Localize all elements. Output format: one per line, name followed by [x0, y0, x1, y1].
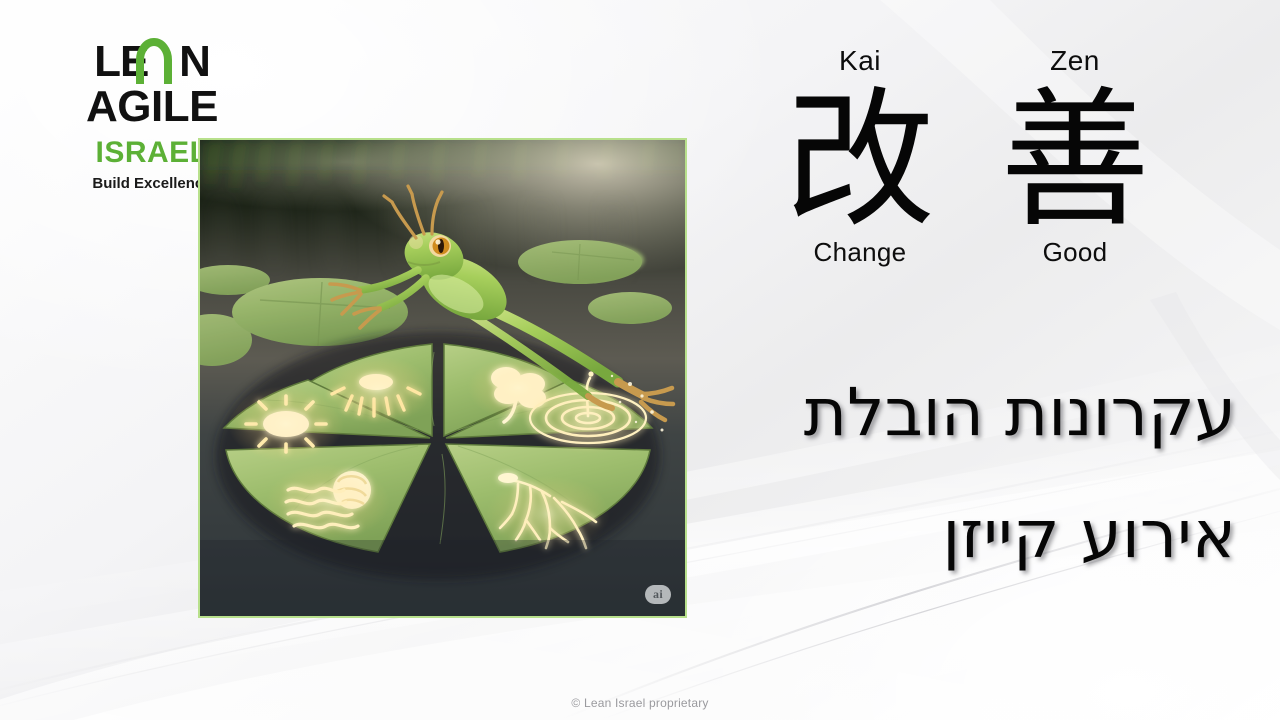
kanji-column-kai: Kai 改 Change — [760, 44, 960, 268]
slide-canvas: LEAN AGILE ISRAEL Build Excellence — [0, 0, 1280, 720]
kanji-romaji-zen: Zen — [975, 44, 1175, 78]
kaizen-illustration: ai — [198, 138, 687, 618]
slide-title: עקרונות הובלת אירוע קייזן — [616, 352, 1236, 596]
kaizen-kanji-block: Kai 改 Change Zen 善 Good — [760, 44, 1190, 314]
green-arch-icon — [52, 38, 252, 86]
logo-lean-row: LEAN — [52, 38, 252, 86]
logo-agile-text: AGILE — [52, 84, 252, 130]
kanji-glyph-zen: 善 — [975, 80, 1175, 242]
kanji-column-zen: Zen 善 Good — [975, 44, 1175, 268]
footer-copyright: © Lean Israel proprietary — [0, 696, 1280, 710]
title-line-1: עקרונות הובלת — [616, 352, 1236, 474]
title-line-2: אירוע קייזן — [616, 474, 1236, 596]
kanji-glyph-kai: 改 — [760, 80, 960, 242]
kanji-romaji-kai: Kai — [760, 44, 960, 78]
illustration-artwork — [200, 140, 685, 616]
